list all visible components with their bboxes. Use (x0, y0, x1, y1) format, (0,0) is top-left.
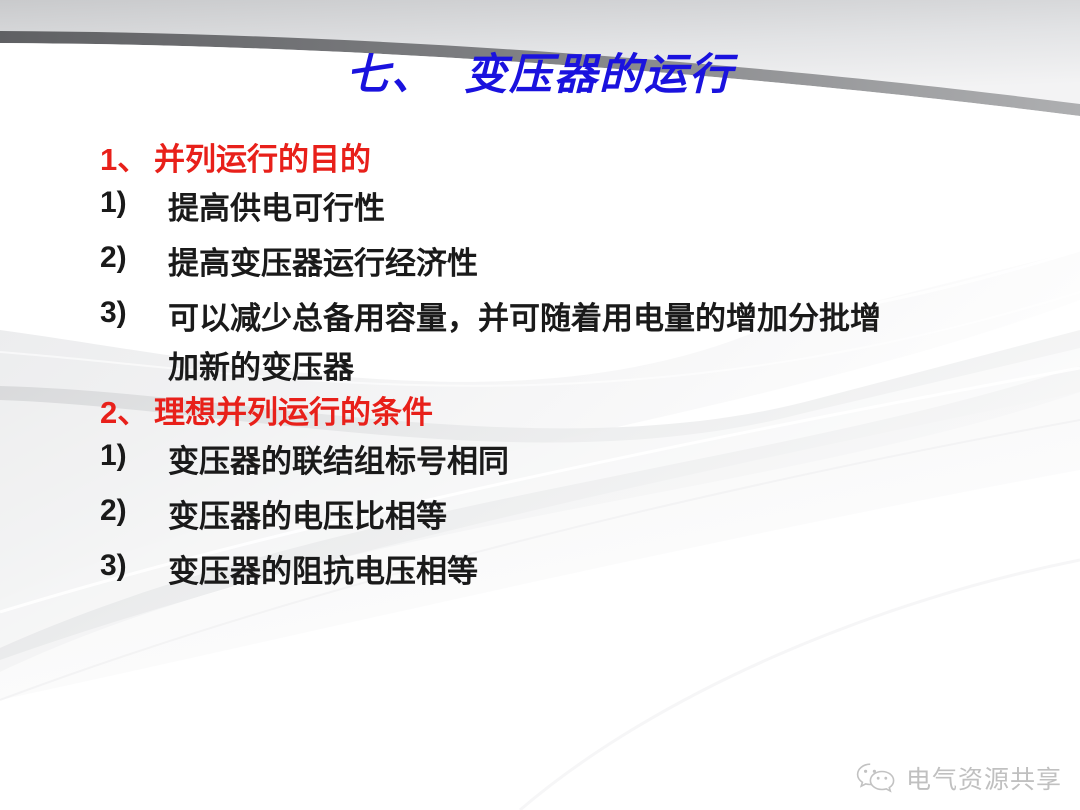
list-item: 2) 变压器的电压比相等 (100, 496, 1030, 537)
list-item: 1) 变压器的联结组标号相同 (100, 441, 1030, 482)
section-heading-2: 2、 理想并列运行的条件 (100, 397, 1030, 428)
list-item-text: 变压器的联结组标号相同 (168, 441, 509, 482)
list-item-marker: 2) (100, 243, 168, 273)
list-item-marker: 3) (100, 298, 168, 328)
section-heading-1: 1、 并列运行的目的 (100, 144, 1030, 175)
watermark-text: 电气资源共享 (906, 760, 1062, 796)
list-item-marker: 3) (100, 551, 168, 581)
list-item-marker: 1) (100, 188, 168, 218)
section-title-1: 并列运行的目的 (154, 144, 371, 175)
list-item-text: 可以减少总备用容量，并可随着用电量的增加分批增 (168, 298, 881, 339)
slide-canvas: 七、 变压器的运行 1、 并列运行的目的 1) 提高供电可行性 2) 提高变压器… (0, 0, 1080, 810)
list-item-marker: 2) (100, 496, 168, 526)
content-body: 1、 并列运行的目的 1) 提高供电可行性 2) 提高变压器运行经济性 3) 可… (100, 142, 1030, 606)
list-item: 3) 变压器的阻抗电压相等 (100, 551, 1030, 592)
list-item-text: 提高供电可行性 (168, 188, 385, 229)
section-title-2: 理想并列运行的条件 (154, 397, 433, 428)
title-block: 七、 变压器的运行 (0, 52, 1080, 99)
list-item-text: 变压器的阻抗电压相等 (168, 551, 478, 592)
list-item-text: 变压器的电压比相等 (168, 496, 447, 537)
list-item-marker: 1) (100, 441, 168, 471)
list-item-continuation: 加新的变压器 (100, 352, 1030, 383)
wechat-icon (855, 761, 897, 795)
watermark: 电气资源共享 (855, 760, 1062, 796)
list-item: 1) 提高供电可行性 (100, 188, 1030, 229)
section-marker-1: 1、 (100, 144, 154, 175)
page-title: 七、 变压器的运行 (346, 52, 734, 99)
section-marker-2: 2、 (100, 397, 154, 428)
list-item: 3) 可以减少总备用容量，并可随着用电量的增加分批增 (100, 298, 1030, 339)
list-item-text: 提高变压器运行经济性 (168, 243, 478, 284)
list-item: 2) 提高变压器运行经济性 (100, 243, 1030, 284)
